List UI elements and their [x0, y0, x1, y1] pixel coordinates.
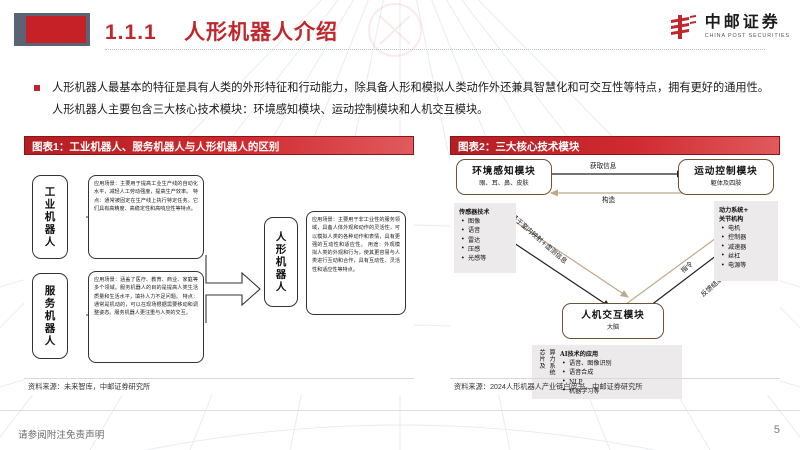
node-service-robot-desc-box: 应用场景：涵盖了医疗、教育、商业、家庭等多个领域。服务机器人的目的是提高人类生活… — [88, 271, 204, 363]
node-service-robot-desc: 应用场景：涵盖了医疗、教育、商业、家庭等多个领域。服务机器人的目的是提高人类生活… — [94, 276, 198, 317]
node-humanoid-robot-desc: 应用场景：主要用于非工业性的服务领域，具备人体外观和动作的灵活性，可以模拟人类的… — [312, 216, 400, 274]
china-post-logo-icon — [669, 14, 699, 40]
actuator-heading: 动力系统+ 关节机构 — [719, 205, 773, 223]
header-mark-inner — [26, 16, 86, 43]
list-item: 语音合成 — [569, 368, 677, 377]
list-item: 电机 — [728, 224, 773, 233]
logo-text-cn: 中邮证券 — [705, 15, 790, 31]
sensor-tech-panel: 传感器技术 图像 语音 雷达 压感 光感等 — [454, 203, 516, 273]
list-item: 图像 — [468, 217, 511, 226]
ai-tech-heading: AI技术的应用 — [560, 349, 677, 358]
list-item: 压感 — [468, 245, 511, 254]
node-industrial-robot-desc-box: 应用场景：主要用于提高工业生产线的自动化水平，减轻人工劳动强度，提高生产效率。 … — [88, 175, 204, 259]
module-motion-control-name: 运动控制模块 — [679, 163, 773, 177]
logo-text-en: CHINA POST SECURITIES — [705, 34, 790, 39]
header-mark-icon — [14, 13, 90, 46]
node-industrial-robot[interactable]: 工业机器人 — [32, 175, 68, 259]
exhibit-1-body: 工业机器人 应用场景：主要用于提高工业生产线的自动化水平，减轻人工劳动强度，提高… — [24, 155, 414, 395]
module-motion-control[interactable]: 运动控制模块 躯体及四肢 — [678, 159, 774, 195]
edge-label-command: 指令 — [678, 258, 695, 274]
module-environment-perception-sub: 眼、耳、鼻、皮肤 — [457, 178, 551, 187]
list-item: 控制器 — [728, 233, 773, 242]
list-item: 光感等 — [468, 254, 511, 263]
exhibit-2-panel: 图表2：三大核心技术模块 — [450, 136, 780, 395]
sensor-tech-list: 图像 语音 雷达 压感 光感等 — [459, 217, 511, 263]
module-motion-control-sub: 躯体及四肢 — [679, 178, 773, 187]
module-environment-perception[interactable]: 环境感知模块 眼、耳、鼻、皮肤 — [456, 159, 552, 195]
edge-label-get-info: 获取信息 — [590, 160, 616, 170]
node-humanoid-robot[interactable]: 人形机器人 — [264, 217, 298, 307]
footer-disclaimer: 请参阅附注免责声明 — [18, 427, 104, 441]
exhibit-1-title-bar: 图表1：工业机器人、服务机器人与人形机器人的区别 — [24, 136, 414, 155]
edge-label-construct: 构造 — [602, 194, 615, 204]
exhibit-2-title-bar: 图表2：三大核心技术模块 — [450, 136, 780, 155]
list-item: 减速器 — [728, 243, 773, 252]
module-hmi-name: 人机交互模块 — [563, 307, 663, 321]
list-item: 雷达 — [468, 236, 511, 245]
exhibit-1-source: 资料来源：未来智库，中邮证券研究所 — [28, 382, 150, 392]
module-human-machine-interaction[interactable]: 人机交互模块 大脑 — [562, 303, 664, 339]
brand-logo: 中邮证券 CHINA POST SECURITIES — [669, 10, 790, 44]
node-humanoid-robot-label: 人形机器人 — [274, 231, 289, 294]
list-item: 电源等 — [728, 261, 773, 270]
exhibit-2-title: 图表2：三大核心技术模块 — [458, 139, 579, 154]
intro-paragraph: 人形机器人最基本的特征是具有人类的外形特征和行动能力，除具备人形和模拟人类动作外… — [34, 78, 769, 122]
section-title: 人形机器人介绍 — [184, 21, 338, 44]
exhibit-2-body: 环境感知模块 眼、耳、鼻、皮肤 运动控制模块 躯体及四肢 人机交互模块 大脑 获… — [450, 155, 780, 395]
node-service-robot[interactable]: 服务机器人 — [32, 273, 68, 359]
header-divider — [105, 49, 765, 50]
module-environment-perception-name: 环境感知模块 — [457, 163, 551, 177]
footer-divider — [0, 410, 800, 411]
page-number: 5 — [774, 424, 780, 436]
exhibit-1-source-divider — [24, 378, 414, 379]
list-item: 语音 — [468, 226, 511, 235]
exhibit-1-panel: 图表1：工业机器人、服务机器人与人形机器人的区别 工业机器人 — [24, 136, 414, 395]
node-industrial-robot-label: 工业机器人 — [43, 186, 58, 249]
actuator-list: 电机 控制器 减速器 丝杠 电源等 — [719, 224, 773, 270]
node-service-robot-label: 服务机器人 — [43, 285, 58, 348]
module-hmi-sub: 大脑 — [563, 322, 663, 331]
exhibit-1-title: 图表1：工业机器人、服务机器人与人形机器人的区别 — [32, 139, 279, 154]
sensor-tech-heading: 传感器技术 — [459, 207, 511, 216]
page-title: 1.1.1 人形机器人介绍 — [105, 16, 338, 46]
bullet-marker-icon — [34, 85, 40, 91]
edge-label-mapping-info: 基于室内映射+虚测信息 — [509, 211, 569, 265]
slide-header: 1.1.1 人形机器人介绍 中邮证券 — [0, 0, 800, 62]
exhibit-2-source-divider — [450, 378, 780, 379]
list-item: 语音、图像识别 — [569, 359, 677, 368]
node-humanoid-robot-desc-box: 应用场景：主要用于非工业性的服务领域，具备人体外观和动作的灵活性，可以模拟人类的… — [306, 211, 406, 315]
intro-paragraph-text: 人形机器人最基本的特征是具有人类的外形特征和行动能力，除具备人形和模拟人类动作外… — [52, 78, 769, 122]
list-item: 丝杠 — [728, 252, 773, 261]
section-number: 1.1.1 — [105, 21, 157, 44]
exhibit-2-source: 资料来源：2024人形机器人产业链白皮书，中邮证券研究所 — [454, 382, 643, 392]
node-industrial-robot-desc: 应用场景：主要用于提高工业生产线的自动化水平，减轻人工劳动强度，提高生产效率。 … — [94, 180, 198, 213]
actuator-panel: 动力系统+ 关节机构 电机 控制器 减速器 丝杠 电源等 — [714, 201, 778, 281]
